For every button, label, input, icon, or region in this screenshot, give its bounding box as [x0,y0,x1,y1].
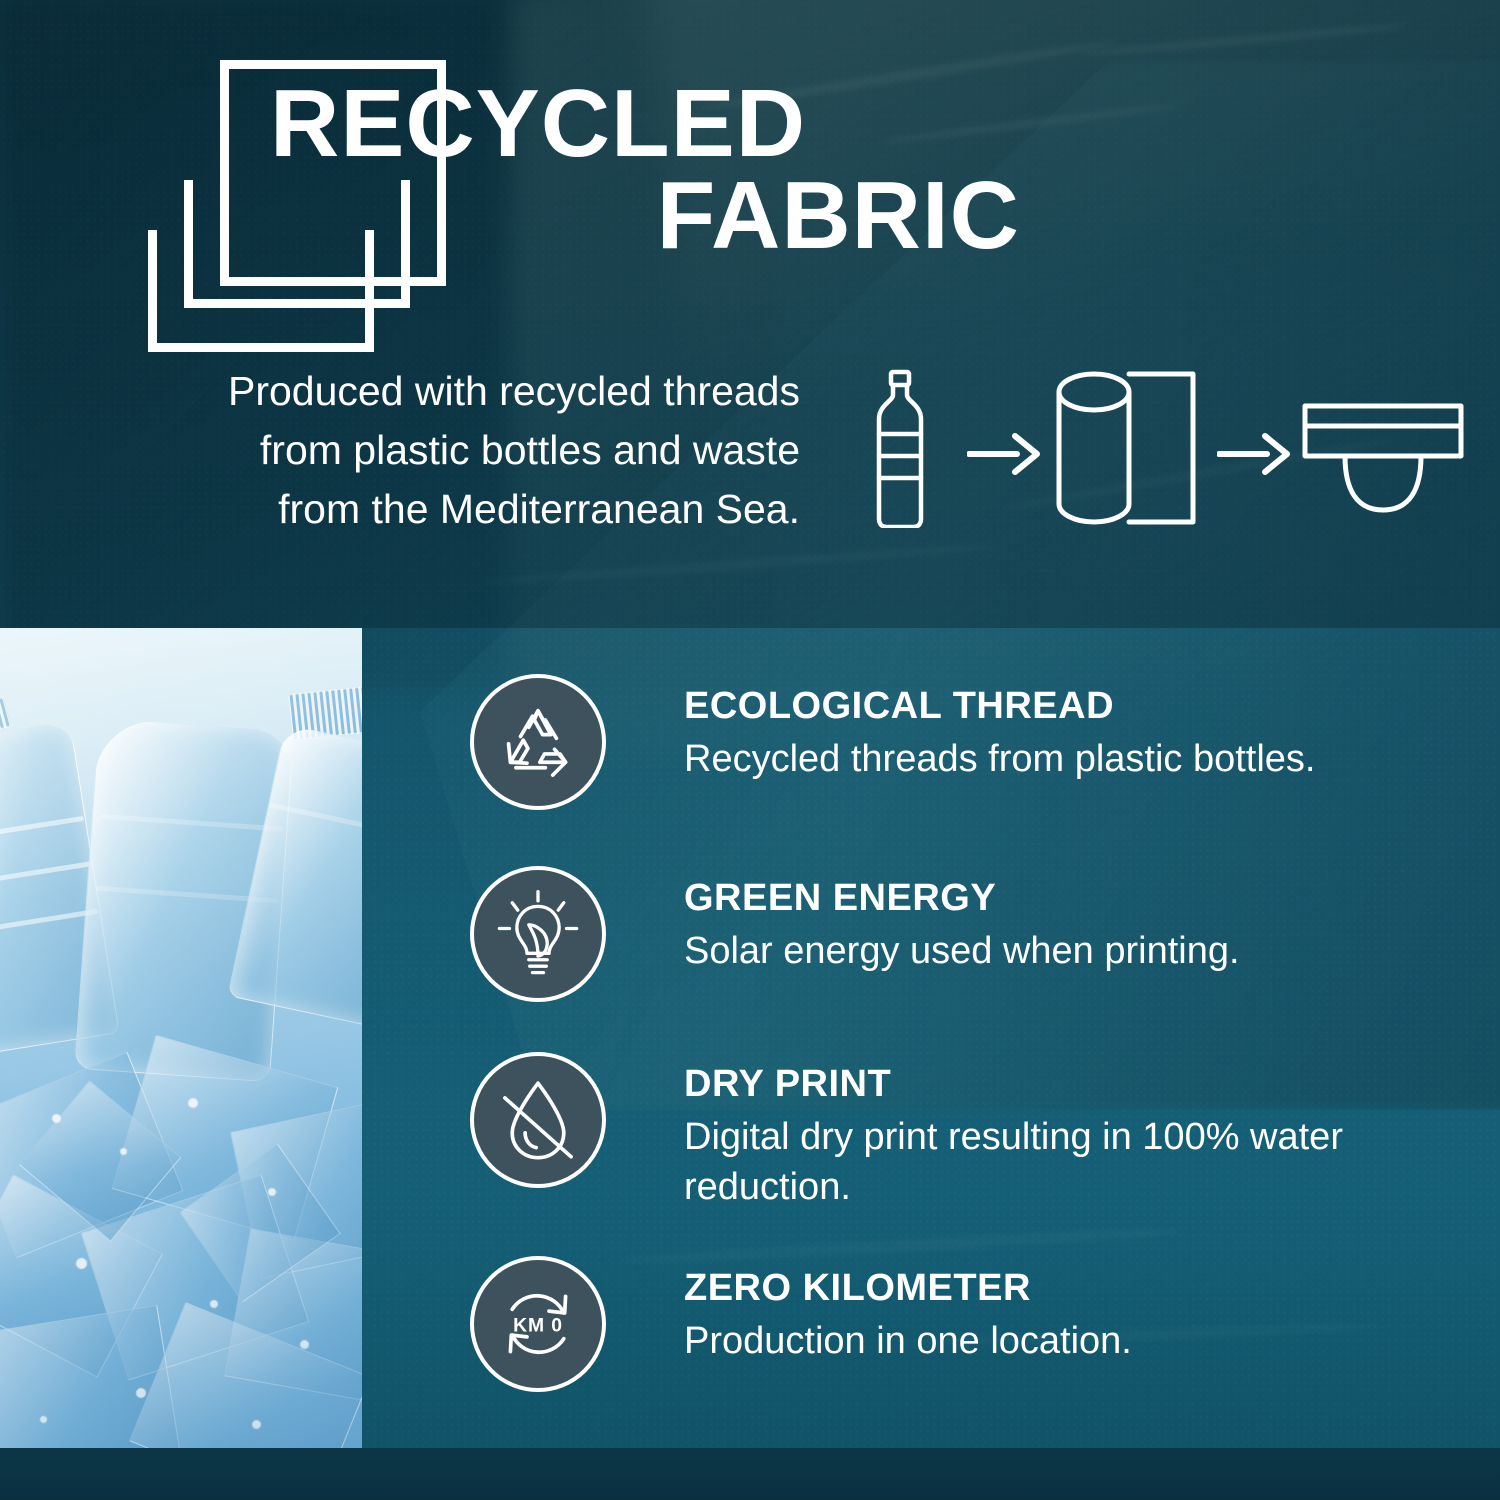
km-zero-cycle-icon: KM 0 [470,1256,606,1392]
footer-band [0,1448,1500,1500]
feature-text: DRY PRINT Digital dry print resulting in… [684,1052,1424,1212]
features-list: ECOLOGICAL THREAD Recycled threads from … [0,628,1500,1448]
feature-title: GREEN ENERGY [684,876,1240,920]
recycle-symbol-icon [470,674,606,810]
page-title: RECYCLED FABRIC [270,78,1030,262]
svg-text:KM 0: KM 0 [513,1315,563,1336]
feature-item-green-energy: GREEN ENERGY Solar energy used when prin… [470,866,1240,1002]
title-line-1: RECYCLED [270,78,1030,170]
header-section: RECYCLED FABRIC Produced with recycled t… [0,0,1500,628]
feature-title: ZERO KILOMETER [684,1266,1132,1310]
feature-title: ECOLOGICAL THREAD [684,684,1316,728]
feature-description: Recycled threads from plastic bottles. [684,734,1316,784]
feature-description: Digital dry print resulting in 100% wate… [684,1112,1424,1212]
subtitle-line-1: Produced with recycled threads [140,362,800,421]
arrow-right-icon [967,432,1041,476]
fabric-roll-icon [1051,366,1201,531]
title-line-2: FABRIC [270,170,1030,262]
no-water-drop-icon [470,1052,606,1188]
feature-item-ecological-thread: ECOLOGICAL THREAD Recycled threads from … [470,674,1316,810]
feature-item-zero-kilometer: KM 0 ZERO KILOMETER Production in one lo… [470,1256,1132,1392]
header-subtitle: Produced with recycled threads from plas… [140,362,800,539]
plastic-bottle-icon [855,368,945,528]
feature-description: Production in one location. [684,1316,1132,1366]
subtitle-line-3: from the Mediterranean Sea. [140,480,800,539]
feature-title: DRY PRINT [684,1062,1424,1106]
arrow-right-icon [1217,432,1291,476]
process-flow-diagram [845,360,1445,540]
feature-text: ECOLOGICAL THREAD Recycled threads from … [684,674,1316,784]
briefs-garment-icon [1301,402,1465,514]
feature-description: Solar energy used when printing. [684,926,1240,976]
feature-text: ZERO KILOMETER Production in one locatio… [684,1256,1132,1366]
feature-item-dry-print: DRY PRINT Digital dry print resulting in… [470,1052,1424,1212]
lightbulb-leaf-icon [470,866,606,1002]
feature-text: GREEN ENERGY Solar energy used when prin… [684,866,1240,976]
subtitle-line-2: from plastic bottles and waste [140,421,800,480]
